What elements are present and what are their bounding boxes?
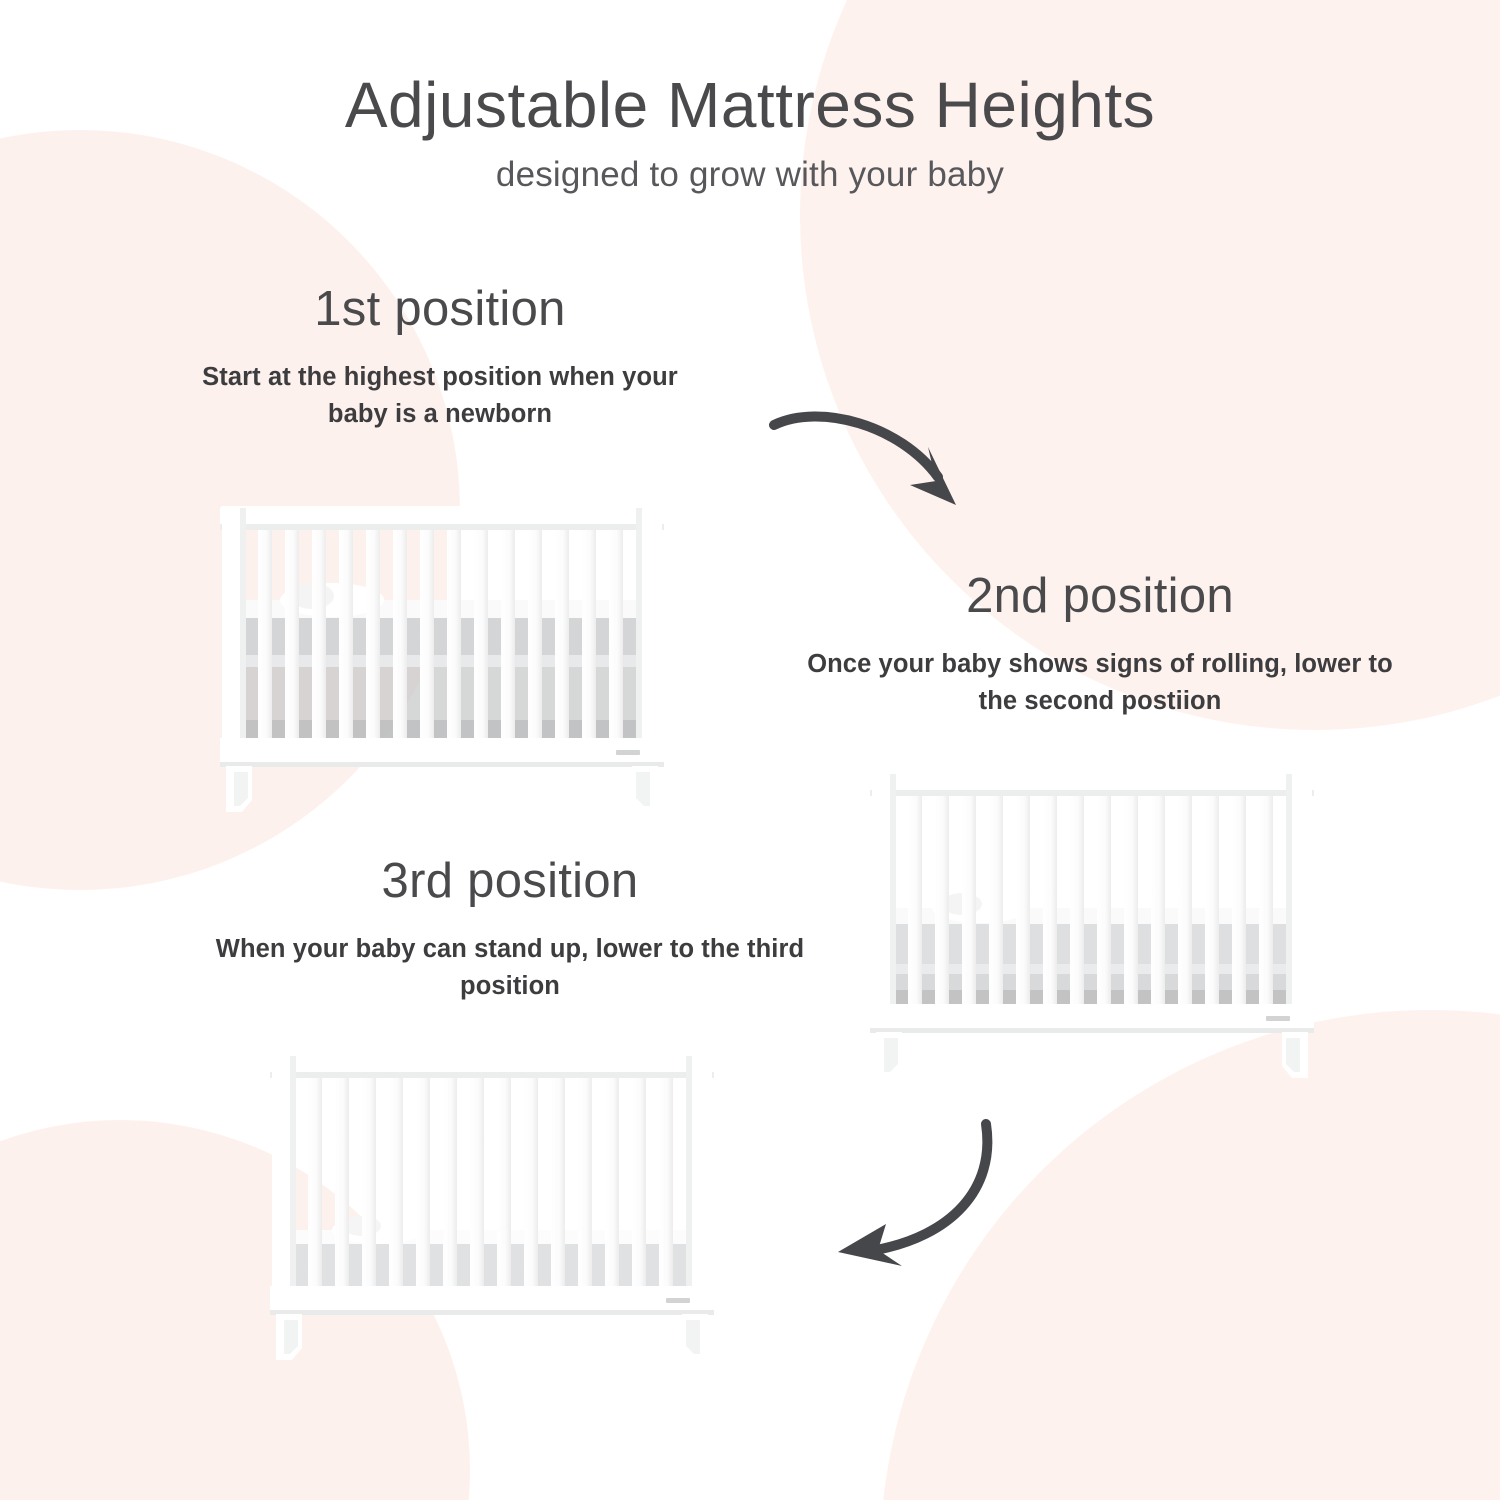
position-description-second: Once your baby shows signs of rolling, l… xyxy=(800,646,1400,719)
crib-illustration-first-position xyxy=(212,500,672,820)
position-block-second: 2nd position Once your baby shows signs … xyxy=(800,570,1400,719)
position-block-first: 1st position Start at the highest positi… xyxy=(170,283,710,432)
position-description-third: When your baby can stand up, lower to th… xyxy=(215,931,805,1004)
infographic-canvas: Adjustable Mattress Heights designed to … xyxy=(0,0,1500,1500)
curved-arrow-down-left-icon xyxy=(790,1110,1040,1300)
header: Adjustable Mattress Heights designed to … xyxy=(0,72,1500,195)
page-subtitle: designed to grow with your baby xyxy=(0,155,1500,195)
curved-arrow-down-right-icon xyxy=(760,385,1020,535)
position-heading-third: 3rd position xyxy=(215,855,805,909)
page-title: Adjustable Mattress Heights xyxy=(0,72,1500,139)
crib-illustration-third-position xyxy=(262,1048,722,1368)
position-heading-first: 1st position xyxy=(170,283,710,337)
position-description-first: Start at the highest position when your … xyxy=(170,359,710,432)
crib-illustration-second-position xyxy=(862,766,1322,1086)
position-heading-second: 2nd position xyxy=(800,570,1400,624)
position-block-third: 3rd position When your baby can stand up… xyxy=(215,855,805,1004)
